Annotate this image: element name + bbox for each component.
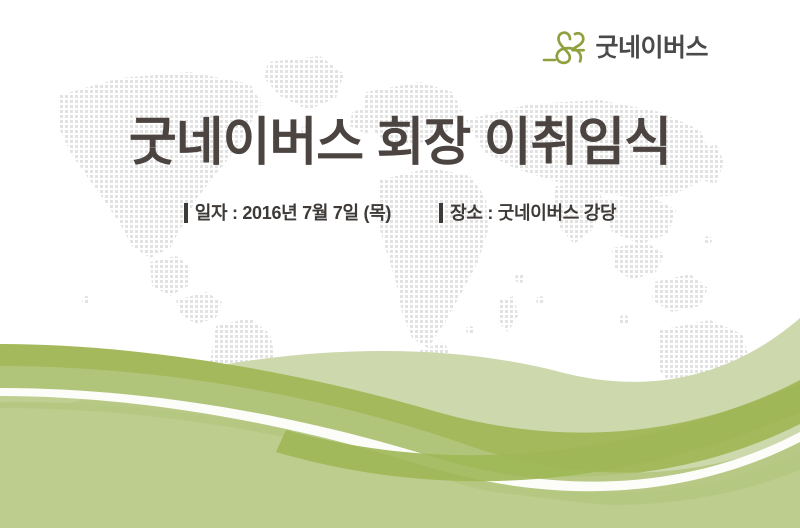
subtitle-item-venue: 장소 : 굿네이버스 강당 bbox=[439, 203, 616, 223]
good-neighbors-logo[interactable]: 굿네이버스 bbox=[542, 30, 708, 66]
event-venue-text: 장소 : 굿네이버스 강당 bbox=[450, 204, 616, 222]
green-wave-decoration bbox=[0, 0, 800, 528]
subtitle-row: 일자 : 2016년 7월 7일 (목) 장소 : 굿네이버스 강당 bbox=[0, 203, 800, 223]
wave-dark-band bbox=[0, 344, 800, 477]
world-map-dots bbox=[0, 0, 800, 528]
bullet-bar-icon bbox=[439, 203, 443, 223]
page-title: 굿네이버스 회장 이취임식 bbox=[0, 114, 800, 174]
presentation-slide: 굿네이버스 굿네이버스 회장 이취임식 일자 : 2016년 7월 7일 (목)… bbox=[0, 0, 800, 528]
ampersand-mark-icon bbox=[542, 30, 588, 66]
wave-white-gap bbox=[0, 388, 800, 491]
wave-mid bbox=[0, 366, 800, 505]
wave-bottom-blend bbox=[0, 450, 800, 528]
wave-dark-cross bbox=[276, 384, 800, 481]
wave-pale bbox=[0, 318, 800, 528]
wave-fill bbox=[0, 402, 800, 528]
logo-text: 굿네이버스 bbox=[595, 36, 708, 61]
bullet-bar-icon bbox=[184, 203, 188, 223]
subtitle-item-date: 일자 : 2016년 7월 7일 (목) bbox=[184, 203, 391, 223]
event-date-text: 일자 : 2016년 7월 7일 (목) bbox=[195, 204, 391, 222]
